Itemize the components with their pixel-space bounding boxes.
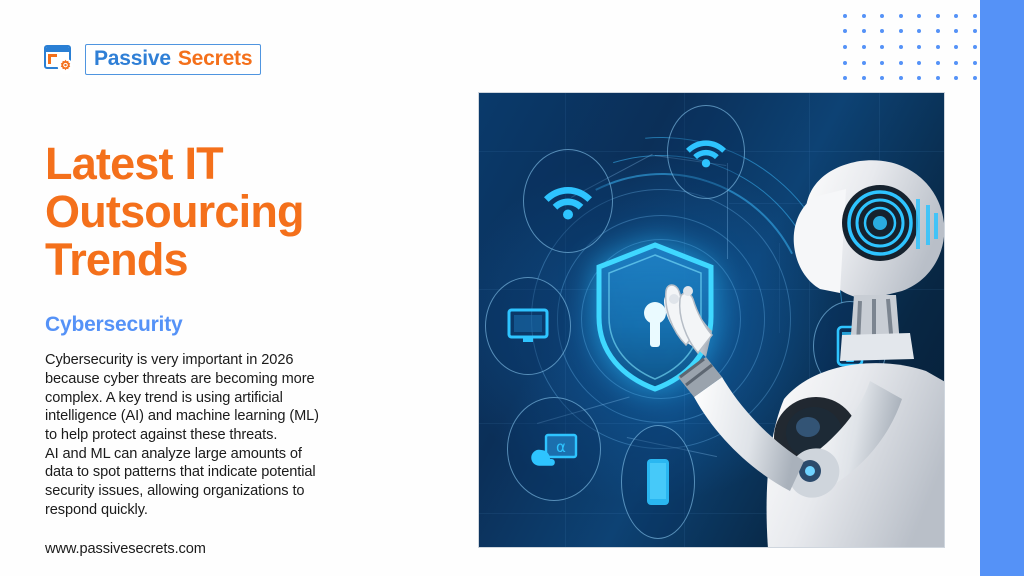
grid-dot — [880, 76, 884, 80]
grid-dot — [880, 29, 884, 33]
dot-grid-decoration — [836, 8, 984, 86]
grid-dot — [973, 76, 977, 80]
grid-dot — [973, 14, 977, 18]
grid-dot — [880, 61, 884, 65]
grid-dot — [917, 14, 921, 18]
grid-dot — [973, 45, 977, 49]
grid-dot — [899, 29, 903, 33]
grid-dot — [843, 76, 847, 80]
grid-dot — [936, 45, 940, 49]
page-title: Latest IT Outsourcing Trends — [45, 140, 445, 284]
logo-wordmark: Passive Secrets — [85, 44, 261, 75]
grid-dot — [954, 14, 958, 18]
grid-dot — [936, 61, 940, 65]
grid-dot — [917, 76, 921, 80]
grid-dot — [880, 45, 884, 49]
grid-dot — [899, 76, 903, 80]
mail-cloud-icon-node: α — [507, 397, 601, 501]
grid-dot — [954, 76, 958, 80]
grid-dot — [936, 14, 940, 18]
right-accent-bar — [980, 0, 1024, 576]
grid-dot — [917, 45, 921, 49]
body-paragraph: Cybersecurity is very important in 2026 … — [45, 351, 445, 519]
grid-dot — [862, 76, 866, 80]
grid-dot — [862, 14, 866, 18]
grid-dot — [862, 45, 866, 49]
grid-dot — [917, 29, 921, 33]
brand-logo[interactable]: Passive Secrets — [44, 44, 261, 75]
logo-word-passive: Passive — [94, 47, 171, 71]
grid-dot — [880, 14, 884, 18]
corner-bracket-icon — [48, 54, 57, 64]
text-column: Latest IT Outsourcing Trends Cybersecuri… — [45, 140, 445, 557]
grid-dot — [954, 61, 958, 65]
hero-image: α — [478, 92, 945, 548]
grid-dot — [954, 45, 958, 49]
grid-dot — [899, 45, 903, 49]
grid-dot — [843, 29, 847, 33]
grid-dot — [862, 61, 866, 65]
grid-dot — [973, 61, 977, 65]
grid-dot — [843, 61, 847, 65]
grid-dot — [917, 61, 921, 65]
monitor-icon — [507, 307, 549, 345]
website-url[interactable]: www.passivesecrets.com — [45, 541, 445, 557]
grid-dot — [862, 29, 866, 33]
gear-icon — [57, 58, 74, 75]
slide-root: Passive Secrets Latest IT Outsourcing Tr… — [0, 0, 1024, 576]
grid-dot — [843, 14, 847, 18]
grid-dot — [936, 29, 940, 33]
grid-dot — [843, 45, 847, 49]
section-subheading: Cybersecurity — [45, 313, 445, 337]
mail-cloud-icon: α — [528, 429, 580, 469]
grid-dot — [899, 61, 903, 65]
monitor-icon-node — [485, 277, 571, 375]
wifi-icon — [544, 182, 592, 220]
logo-word-secrets: Secrets — [178, 47, 253, 71]
wifi-icon-node-left — [523, 149, 613, 253]
grid-dot — [936, 76, 940, 80]
robot-head-icon — [664, 149, 945, 548]
browser-window-gear-icon — [44, 45, 76, 75]
grid-dot — [973, 29, 977, 33]
browser-titlebar-icon — [46, 47, 69, 52]
grid-dot — [954, 29, 958, 33]
svg-text:α: α — [556, 438, 566, 456]
grid-dot — [899, 14, 903, 18]
